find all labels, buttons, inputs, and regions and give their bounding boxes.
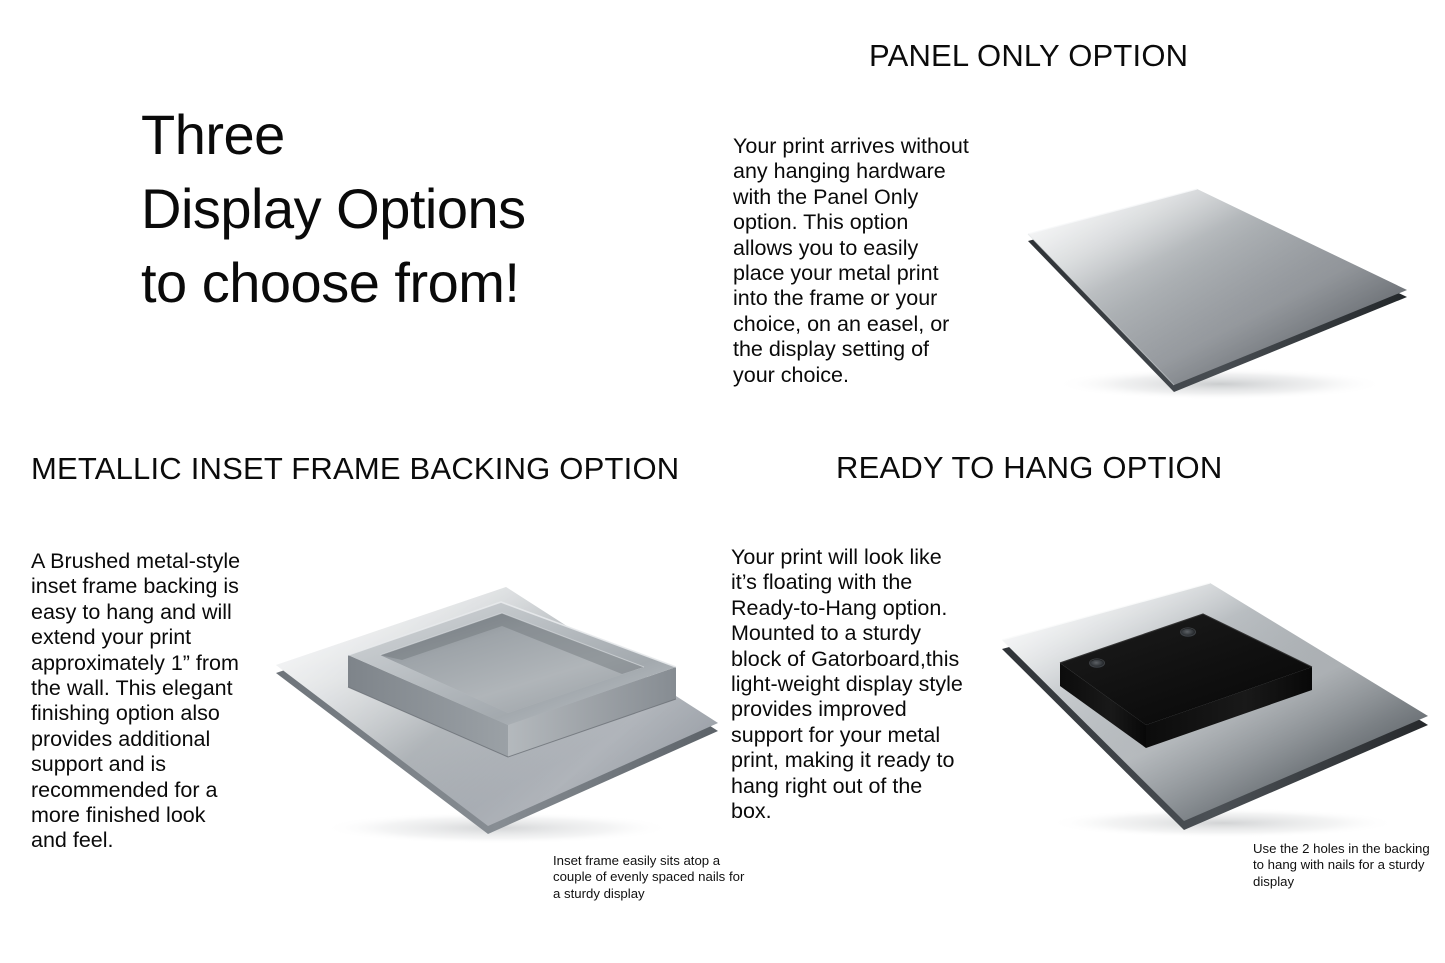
section-heading-ready-to-hang: READY TO HANG OPTION — [836, 450, 1222, 486]
metal-panel-illustration — [975, 150, 1435, 415]
inset-frame-illustration — [252, 585, 722, 855]
caption-inset-frame: Inset frame easily sits atop a couple of… — [553, 853, 753, 902]
section-body-inset-frame: A Brushed metal-style inset frame backin… — [31, 549, 243, 854]
section-heading-inset-frame: METALLIC INSET FRAME BACKING OPTION — [31, 451, 679, 487]
caption-ready-to-hang: Use the 2 holes in the backing to hang w… — [1253, 841, 1443, 890]
ready-to-hang-illustration — [988, 578, 1443, 848]
page-title: Three Display Options to choose from! — [141, 98, 701, 320]
section-body-panel-only: Your print arrives without any hanging h… — [733, 134, 973, 388]
section-heading-panel-only: PANEL ONLY OPTION — [869, 38, 1188, 74]
section-body-ready-to-hang: Your print will look like it’s floating … — [731, 545, 963, 824]
